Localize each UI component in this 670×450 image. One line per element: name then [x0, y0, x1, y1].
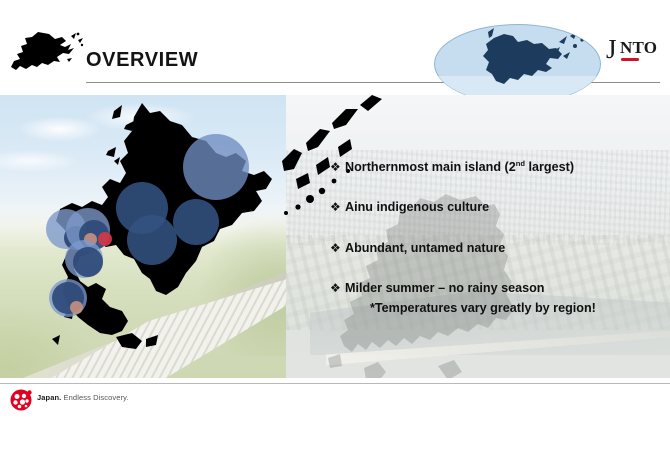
japan-endless-discovery-logo: Japan. Endless Discovery.: [10, 389, 250, 411]
bullet-item-3: ❖ Abundant, untamed nature: [330, 241, 670, 256]
bullet-text-3: Abundant, untamed nature: [345, 241, 670, 256]
bullet-text-4: Milder summer – no rainy season: [345, 281, 670, 296]
jnto-logo-nto: NTO: [620, 39, 657, 56]
brand-tagline: Endless Discovery.: [61, 393, 128, 402]
hokkaido-silhouette-icon: [8, 28, 86, 86]
bullet-text-2: Ainu indigenous culture: [345, 200, 670, 215]
japan-endless-discovery-text: Japan. Endless Discovery.: [37, 393, 129, 402]
bullet-glyph-icon: ❖: [330, 241, 345, 256]
bullet-text-1-before: Northernmost main island (2: [345, 160, 516, 174]
marker-south-core: [73, 247, 103, 277]
bullet-glyph-icon: ❖: [330, 281, 345, 296]
jnto-logo-j: J: [606, 36, 617, 63]
slide-header: OVERVIEW: [0, 0, 670, 95]
marker-central-lower: [127, 215, 177, 265]
slide-root: OVERVIEW: [0, 0, 670, 450]
footer-divider: [0, 383, 670, 384]
bullet-item-2: ❖ Ainu indigenous culture: [330, 200, 670, 215]
bullet-item-1: ❖ Northernmost main island (2nd largest): [330, 160, 670, 175]
bullet-text-1-after: largest): [525, 160, 574, 174]
marker-hakodate-tan: [70, 301, 83, 314]
bullet-item-4: ❖ Milder summer – no rainy season: [330, 281, 670, 296]
bullet-glyph-icon: ❖: [330, 160, 345, 175]
overview-bullet-list: ❖ Northernmost main island (2nd largest)…: [330, 160, 670, 317]
marker-east: [173, 199, 219, 245]
cherry-blossom-mark: [10, 389, 32, 411]
marker-capital-red: [98, 232, 112, 246]
bullet-item-4-subnote: *Temperatures vary greatly by region!: [370, 301, 670, 316]
jnto-logo-accent-bar: [621, 58, 639, 61]
marker-north-east-large: [183, 134, 249, 200]
jnto-logo: J NTO: [606, 38, 664, 72]
bullet-text-1: Northernmost main island (2nd largest): [345, 160, 670, 175]
page-title: OVERVIEW: [86, 50, 198, 70]
brand-name: Japan.: [37, 393, 61, 402]
bullet-glyph-icon: ❖: [330, 200, 345, 215]
hokkaido-locator-map: [434, 24, 601, 104]
bullet-text-1-superscript: nd: [516, 159, 525, 168]
